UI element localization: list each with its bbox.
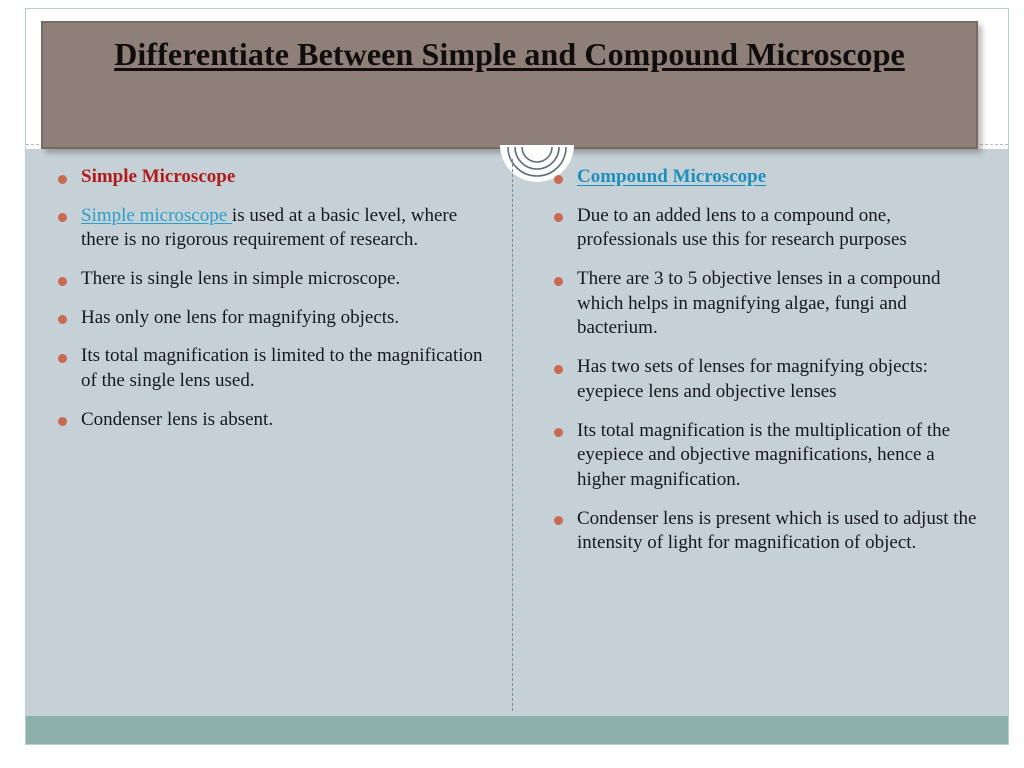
column-compound-microscope: Compound Microscope Due to an added lens… xyxy=(522,149,1008,716)
bullet-list-compound: Compound Microscope Due to an added lens… xyxy=(544,165,982,556)
comparison-columns: Simple Microscope Simple microscope is u… xyxy=(26,149,1008,716)
heading-simple-microscope-label: Simple Microscope xyxy=(81,166,235,187)
list-item: Has two sets of lenses for magnifying ob… xyxy=(544,355,982,404)
slide-canvas: Differentiate Between Simple and Compoun… xyxy=(25,8,1009,745)
link-simple-microscope[interactable]: Simple microscope xyxy=(81,205,232,226)
heading-compound-microscope: Compound Microscope xyxy=(544,165,982,190)
list-item: Has only one lens for magnifying objects… xyxy=(48,306,486,331)
page-title: Differentiate Between Simple and Compoun… xyxy=(114,35,905,74)
bottom-accent-bar xyxy=(26,716,1008,745)
heading-simple-microscope: Simple Microscope xyxy=(48,165,486,190)
list-item: There is single lens in simple microscop… xyxy=(48,267,486,292)
slide-title-box: Differentiate Between Simple and Compoun… xyxy=(41,21,978,149)
list-item: There are 3 to 5 objective lenses in a c… xyxy=(544,267,982,341)
heading-compound-microscope-label[interactable]: Compound Microscope xyxy=(577,166,766,187)
list-item: Its total magnification is limited to th… xyxy=(48,344,486,393)
list-item: Due to an added lens to a compound one, … xyxy=(544,204,982,253)
column-simple-microscope: Simple Microscope Simple microscope is u… xyxy=(26,149,512,716)
list-item: Its total magnification is the multiplic… xyxy=(544,419,982,493)
bullet-list-simple: Simple Microscope Simple microscope is u… xyxy=(48,165,486,433)
list-item: Condenser lens is absent. xyxy=(48,408,486,433)
list-item: Simple microscope is used at a basic lev… xyxy=(48,204,486,253)
list-item: Condenser lens is present which is used … xyxy=(544,507,982,556)
column-divider xyxy=(512,159,513,711)
